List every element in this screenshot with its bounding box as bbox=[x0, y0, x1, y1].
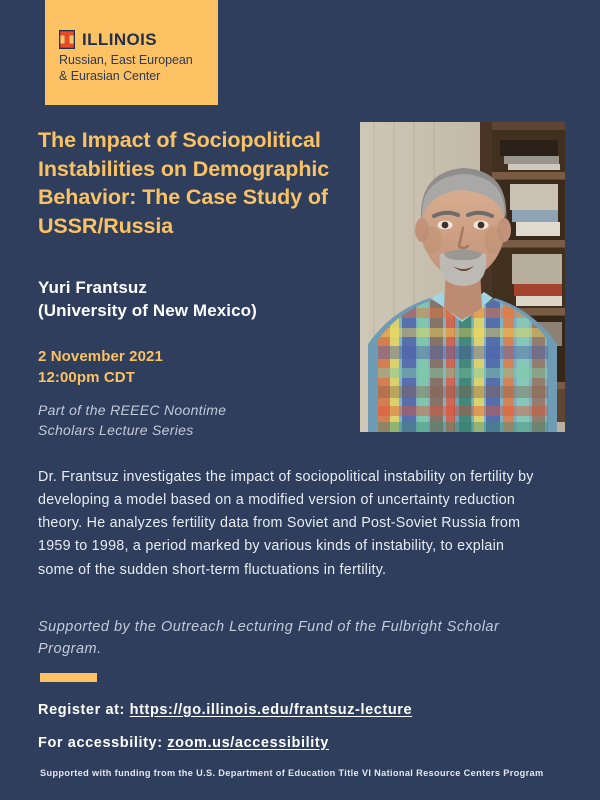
logo-unit-line-2: & Eurasian Center bbox=[59, 68, 211, 84]
funding-footer: Supported with funding from the U.S. Dep… bbox=[40, 768, 570, 778]
illinois-wordmark: ILLINOIS bbox=[59, 30, 218, 49]
reeec-logo-block: ILLINOIS Russian, East European & Eurasi… bbox=[45, 0, 218, 105]
speaker-block: Yuri Frantsuz (University of New Mexico) bbox=[38, 276, 368, 323]
register-row: Register at: https://go.illinois.edu/fra… bbox=[38, 702, 412, 718]
page-title: The Impact of Sociopolitical Instabiliti… bbox=[38, 126, 348, 240]
event-date: 2 November 2021 bbox=[38, 346, 163, 367]
wordmark-label: ILLINOIS bbox=[82, 31, 157, 48]
accessibility-link[interactable]: zoom.us/accessibility bbox=[167, 735, 329, 751]
speaker-affiliation: (University of New Mexico) bbox=[38, 299, 368, 322]
series-line-1: Part of the REEEC Noontime bbox=[38, 400, 338, 420]
accessibility-row: For accessbility: zoom.us/accessibility bbox=[38, 735, 329, 751]
illinois-block-i-icon bbox=[59, 30, 75, 49]
series-line-2: Scholars Lecture Series bbox=[38, 420, 338, 440]
support-note: Supported by the Outreach Lecturing Fund… bbox=[38, 617, 528, 661]
logo-unit-line-1: Russian, East European bbox=[59, 52, 211, 68]
event-time: 12:00pm CDT bbox=[38, 367, 163, 388]
event-abstract: Dr. Frantsuz investigates the impact of … bbox=[38, 466, 538, 582]
event-datetime: 2 November 2021 12:00pm CDT bbox=[38, 346, 163, 389]
speaker-portrait bbox=[360, 122, 565, 432]
logo-unit-name: Russian, East European & Eurasian Center bbox=[59, 52, 211, 84]
lecture-series-note: Part of the REEEC Noontime Scholars Lect… bbox=[38, 400, 338, 441]
lecture-flyer: ILLINOIS Russian, East European & Eurasi… bbox=[0, 0, 600, 800]
register-link[interactable]: https://go.illinois.edu/frantsuz-lecture bbox=[130, 702, 413, 718]
speaker-name: Yuri Frantsuz bbox=[38, 276, 368, 299]
register-label: Register at: bbox=[38, 702, 125, 718]
gold-divider-bar bbox=[40, 673, 97, 682]
accessibility-label: For accessbility: bbox=[38, 735, 163, 751]
